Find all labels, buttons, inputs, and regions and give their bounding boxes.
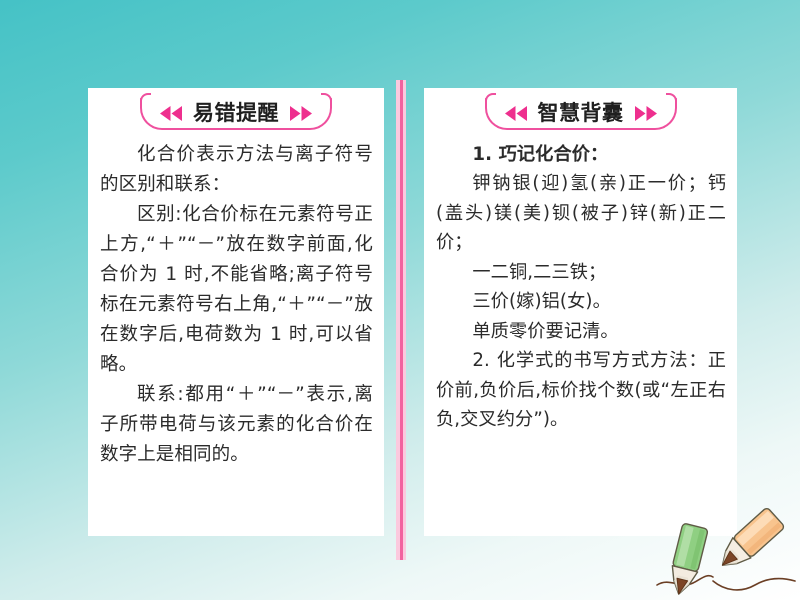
right-badge: 智慧背囊 xyxy=(485,98,677,130)
right-panel-heading: 智慧背囊 xyxy=(424,94,737,140)
left-panel-body: 化合价表示方法与离子符号的区别和联系： 区别:化合价标在元素符号正上方,“＋”“… xyxy=(88,140,384,470)
left-paragraph-2: 区别:化合价标在元素符号正上方,“＋”“－”放在数字前面,化合价为 1 时,不能… xyxy=(100,200,373,380)
pencil-decoration xyxy=(655,485,800,600)
right-paragraph-4: 三价(嫁)铝(女)。 xyxy=(436,287,726,316)
right-badge-title: 智慧背囊 xyxy=(536,103,626,124)
right-paragraph-3: 一二铜,二三铁； xyxy=(436,258,726,287)
right-paragraph-6: 2. 化学式的书写方式方法：正价前,负价后,标价找个数(或“左正右负,交叉约分”… xyxy=(436,346,726,434)
double-left-arrow-icon xyxy=(503,105,529,122)
right-paragraph-2: 钾钠银(迎)氢(亲)正一价；钙(盖头)镁(美)钡(被子)锌(新)正二价； xyxy=(436,169,726,257)
double-left-arrow-icon xyxy=(158,105,184,122)
left-paragraph-3: 联系:都用“＋”“－”表示,离子所带电荷与该元素的化合价在数字上是相同的。 xyxy=(100,380,373,470)
double-right-arrow-icon xyxy=(288,105,314,122)
left-panel-heading: 易错提醒 xyxy=(88,94,384,140)
vertical-divider xyxy=(396,80,408,560)
right-panel-body: 1. 巧记化合价： 钾钠银(迎)氢(亲)正一价；钙(盖头)镁(美)钡(被子)锌(… xyxy=(424,140,737,435)
left-badge: 易错提醒 xyxy=(140,98,332,130)
slide-canvas: 易错提醒 化合价表示方法与离子符号的区别和联系： 区别:化合价标在元素符号正上方… xyxy=(0,0,800,600)
double-right-arrow-icon xyxy=(633,105,659,122)
left-content-panel: 易错提醒 化合价表示方法与离子符号的区别和联系： 区别:化合价标在元素符号正上方… xyxy=(88,88,384,536)
left-badge-title: 易错提醒 xyxy=(191,103,281,124)
right-content-panel: 智慧背囊 1. 巧记化合价： 钾钠银(迎)氢(亲)正一价；钙(盖头)镁(美)钡(… xyxy=(424,88,737,536)
right-paragraph-5: 单质零价要记清。 xyxy=(436,317,726,346)
left-paragraph-1: 化合价表示方法与离子符号的区别和联系： xyxy=(100,140,373,200)
right-paragraph-1: 1. 巧记化合价： xyxy=(436,140,726,169)
divider-inner-line xyxy=(400,80,403,560)
